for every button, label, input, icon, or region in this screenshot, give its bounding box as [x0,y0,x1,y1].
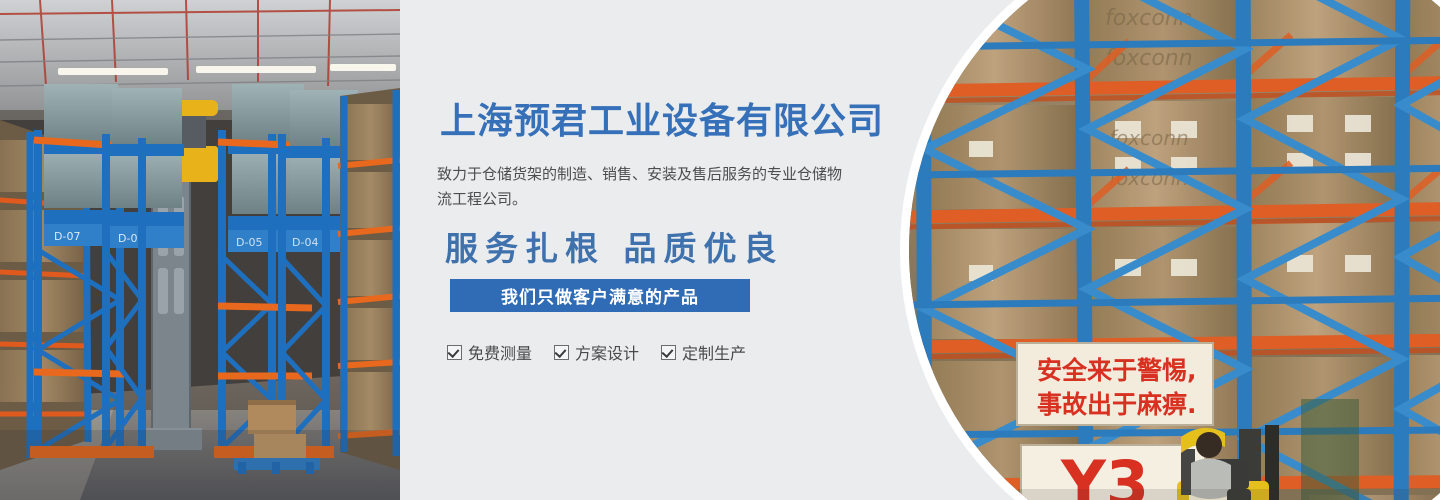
checkbox-checked-icon [554,345,569,360]
right-warehouse-photo-wrapper: foxconn foxconn foxconn foxconn [900,0,1440,500]
hero-content: 上海预君工业设备有限公司 致力于仓储货架的制造、销售、安装及售后服务的专业仓储物… [437,0,907,500]
checkbox-checked-icon [661,345,676,360]
feature-item-custom-production: 定制生产 [661,340,746,364]
slogan-text: 服务扎根 品质优良 [445,228,784,270]
feature-list: 免费测量 方案设计 定制生产 [447,340,746,364]
left-warehouse-illustration: D-07 D- [0,0,400,500]
aisle-label-d04: D-04 [292,236,318,249]
aisle-label-d07: D-07 [54,230,80,243]
right-warehouse-illustration: foxconn foxconn foxconn foxconn [909,0,1440,500]
company-title: 上海预君工业设备有限公司 [440,100,884,144]
right-warehouse-photo: foxconn foxconn foxconn foxconn [909,0,1440,500]
company-subtitle: 致力于仓储货架的制造、销售、安装及售后服务的专业仓储物流工程公司。 [437,162,855,212]
hero-banner: D-07 D- [0,0,1440,500]
feature-label: 免费测量 [468,340,532,364]
feature-label: 定制生产 [682,340,746,364]
feature-item-plan-design: 方案设计 [554,340,639,364]
aisle-label-d05: D-05 [236,236,262,249]
checkbox-checked-icon [447,345,462,360]
cta-button[interactable]: 我们只做客户满意的产品 [450,279,750,312]
left-warehouse-photo: D-07 D- [0,0,400,500]
feature-label: 方案设计 [575,340,639,364]
feature-item-free-measure: 免费测量 [447,340,532,364]
